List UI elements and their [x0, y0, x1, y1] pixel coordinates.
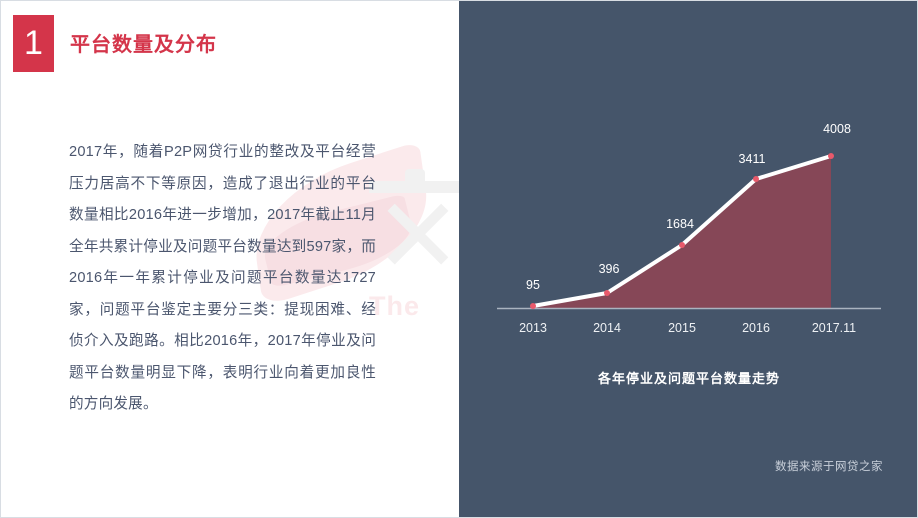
chart-source-note: 数据来源于网贷之家 — [775, 458, 883, 474]
left-content-panel: ✕ The 1 平台数量及分布 2017年，随着P2P网贷行业的整改及平台经营压… — [1, 1, 459, 518]
chart-title: 各年停业及问题平台数量走势 — [459, 368, 918, 387]
chart-data-point[interactable] — [828, 153, 834, 159]
chart-value-label: 396 — [599, 262, 620, 276]
watermark-bar-icon — [369, 181, 459, 193]
slide-root: ✕ The 1 平台数量及分布 2017年，随着P2P网贷行业的整改及平台经营压… — [0, 0, 918, 518]
section-number-badge: 1 — [13, 15, 54, 72]
watermark-x-icon: ✕ — [363, 189, 459, 285]
chart-panel: 95 396 1684 3411 4008 2013 2014 2015 201… — [459, 1, 918, 518]
chart-data-point[interactable] — [530, 303, 536, 309]
chart-data-point[interactable] — [679, 242, 685, 248]
chart-data-point[interactable] — [753, 176, 759, 182]
chart-value-label: 1684 — [666, 217, 694, 231]
watermark-dot-icon — [405, 169, 425, 187]
chart-x-tick-label: 2014 — [593, 321, 621, 335]
chart-value-label: 95 — [526, 278, 540, 292]
chart-x-tick-label: 2015 — [668, 321, 696, 335]
chart-value-label: 4008 — [823, 122, 851, 136]
chart-x-tick-label: 2016 — [742, 321, 770, 335]
chart-area-fill — [533, 156, 831, 308]
watermark-label: The — [369, 291, 420, 322]
area-chart: 95 396 1684 3411 4008 2013 2014 2015 201… — [459, 1, 918, 361]
body-paragraph: 2017年，随着P2P网贷行业的整改及平台经营压力居高不下等原因，造成了退出行业… — [69, 137, 376, 421]
chart-x-tick-label: 2013 — [519, 321, 547, 335]
page-title: 平台数量及分布 — [70, 28, 217, 57]
chart-value-label: 3411 — [739, 152, 766, 166]
chart-data-point[interactable] — [604, 290, 610, 296]
chart-x-tick-label: 2017.11 — [812, 321, 856, 335]
